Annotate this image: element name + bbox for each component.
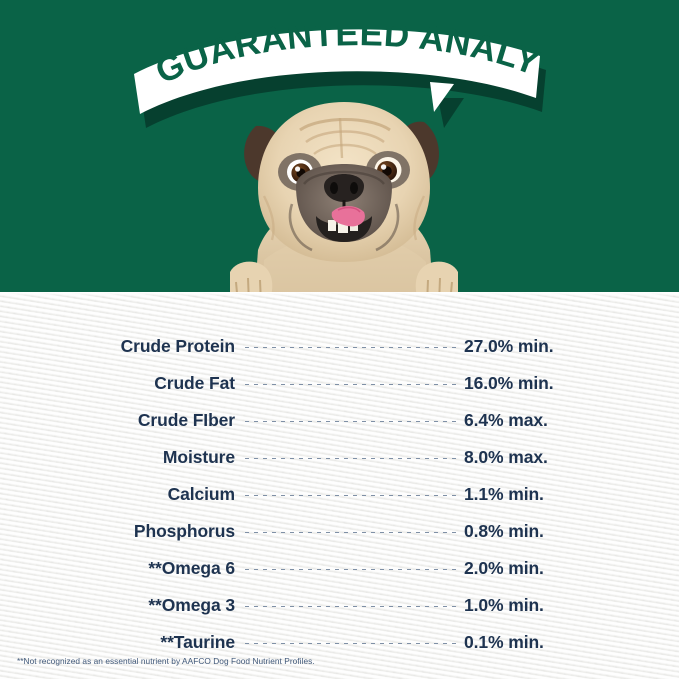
leader-line xyxy=(245,347,456,348)
nutrient-amount: 1.0% min. xyxy=(464,595,679,616)
table-row: Moisture 8.0% max. xyxy=(0,439,679,476)
nutrient-label: Calcium xyxy=(0,484,235,505)
leader-line xyxy=(245,643,456,644)
footnote-text: **Not recognized as an essential nutrien… xyxy=(17,656,315,666)
table-row: Crude Fat 16.0% min. xyxy=(0,365,679,402)
nutrient-label: Crude Protein xyxy=(0,336,235,357)
nutrient-label: Crude Fat xyxy=(0,373,235,394)
leader-line xyxy=(245,421,456,422)
nutrient-label: **Omega 3 xyxy=(0,595,235,616)
table-row: **Omega 3 1.0% min. xyxy=(0,587,679,624)
table-row: Crude FIber 6.4% max. xyxy=(0,402,679,439)
guaranteed-analysis-poster: GUARANTEED ANALYSIS xyxy=(0,0,679,679)
leader-line xyxy=(245,458,456,459)
nutrient-amount: 1.1% min. xyxy=(464,484,679,505)
nutrient-label: **Taurine xyxy=(0,632,235,653)
pug-dog-image xyxy=(228,100,460,305)
nutrient-label: Crude FIber xyxy=(0,410,235,431)
table-row: Phosphorus 0.8% min. xyxy=(0,513,679,550)
table-row: Calcium 1.1% min. xyxy=(0,476,679,513)
leader-line xyxy=(245,532,456,533)
nutrient-label: **Omega 6 xyxy=(0,558,235,579)
nutrient-amount: 0.1% min. xyxy=(464,632,679,653)
nutrient-amount: 8.0% max. xyxy=(464,447,679,468)
table-row: Crude Protein 27.0% min. xyxy=(0,328,679,365)
leader-line xyxy=(245,606,456,607)
leader-line xyxy=(245,384,456,385)
nutrient-label: Phosphorus xyxy=(0,521,235,542)
nutrient-amount: 27.0% min. xyxy=(464,336,679,357)
guaranteed-analysis-table: Crude Protein 27.0% min. Crude Fat 16.0%… xyxy=(0,328,679,661)
nutrient-amount: 16.0% min. xyxy=(464,373,679,394)
ribbon-shape xyxy=(132,26,544,110)
nutrient-amount: 0.8% min. xyxy=(464,521,679,542)
table-row: **Omega 6 2.0% min. xyxy=(0,550,679,587)
paper-top-edge xyxy=(0,292,679,296)
nutrient-amount: 6.4% max. xyxy=(464,410,679,431)
nutrient-amount: 2.0% min. xyxy=(464,558,679,579)
leader-line xyxy=(245,495,456,496)
leader-line xyxy=(245,569,456,570)
nutrient-label: Moisture xyxy=(0,447,235,468)
